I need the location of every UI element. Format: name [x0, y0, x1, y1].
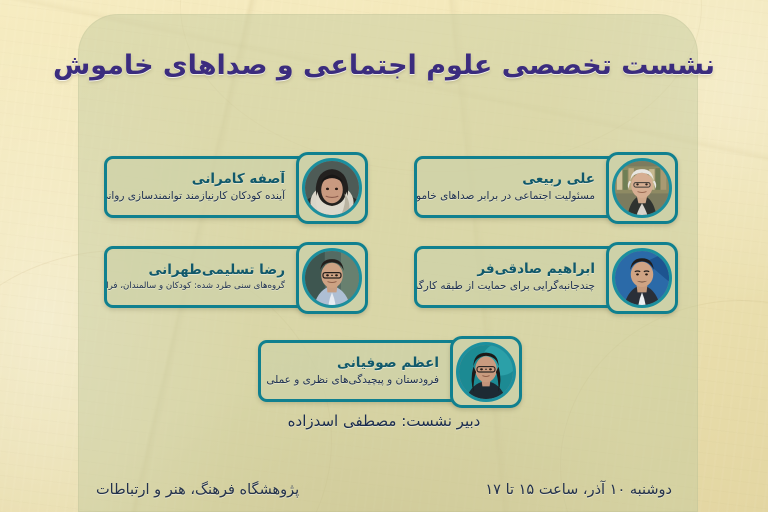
- avatar-ring: [612, 248, 672, 308]
- speaker-photo-man-glasses-blue-shirt: [305, 251, 359, 305]
- avatar: [296, 152, 368, 224]
- speaker-name: اعظم صوفیانی: [271, 355, 439, 372]
- speaker-photo-elderly-man-bookshelf: [615, 161, 669, 215]
- avatar: [606, 152, 678, 224]
- avatar: [450, 336, 522, 408]
- avatar-ring: [456, 342, 516, 402]
- avatar: [296, 242, 368, 314]
- avatar-ring: [302, 158, 362, 218]
- speaker-name: ابراهیم صادقی‌فر: [427, 261, 595, 278]
- event-datetime: دوشنبه ۱۰ آذر، ساعت ۱۵ تا ۱۷: [485, 482, 672, 498]
- speaker-card[interactable]: علی ربیعی مسئولیت اجتماعی در برابر صداها…: [414, 156, 672, 218]
- avatar-ring: [302, 248, 362, 308]
- event-organizer: پژوهشگاه فرهنگ، هنر و ارتباطات: [96, 482, 299, 498]
- avatar: [606, 242, 678, 314]
- speaker-topic: مسئولیت اجتماعی در برابر صداهای خاموش: [427, 190, 595, 204]
- event-poster: نشست تخصصی علوم اجتماعی و صداهای خاموش آ…: [0, 0, 768, 512]
- moderator-line: دبیر نشست: مصطفی اسدزاده: [0, 412, 768, 430]
- speaker-card[interactable]: اعظم صوفیانی فرودستان و پیچیدگی‌های نظری…: [258, 340, 516, 402]
- page-title: نشست تخصصی علوم اجتماعی و صداهای خاموش: [0, 50, 768, 81]
- speaker-topic: چندجانبه‌گرایی برای حمایت از طبقه کارگر: [427, 280, 595, 294]
- speaker-topic: فرودستان و پیچیدگی‌های نظری و عملی: [271, 374, 439, 388]
- speaker-name: رضا تسلیمی‌طهرانی: [117, 262, 285, 279]
- speaker-topic: آینده کودکان کارنیازمند توانمندسازی روان…: [117, 190, 285, 204]
- speaker-name: آصفه کامرانی: [117, 171, 285, 188]
- speaker-name: علی ربیعی: [427, 171, 595, 188]
- speaker-photo-woman-glasses: [459, 345, 513, 399]
- speaker-card[interactable]: ابراهیم صادقی‌فر چندجانبه‌گرایی برای حما…: [414, 246, 672, 308]
- avatar-ring: [612, 158, 672, 218]
- footer: دوشنبه ۱۰ آذر، ساعت ۱۵ تا ۱۷ پژوهشگاه فر…: [96, 482, 672, 498]
- speaker-card[interactable]: آصفه کامرانی آینده کودکان کارنیازمند توا…: [104, 156, 362, 218]
- speaker-topic: گروه‌های سنی طرد شده: کودکان و سالمندان،…: [117, 281, 285, 292]
- speaker-card[interactable]: رضا تسلیمی‌طهرانی گروه‌های سنی طرد شده: …: [104, 246, 362, 308]
- speaker-photo-man-blue-background: [615, 251, 669, 305]
- speaker-photo-woman-headscarf: [305, 161, 359, 215]
